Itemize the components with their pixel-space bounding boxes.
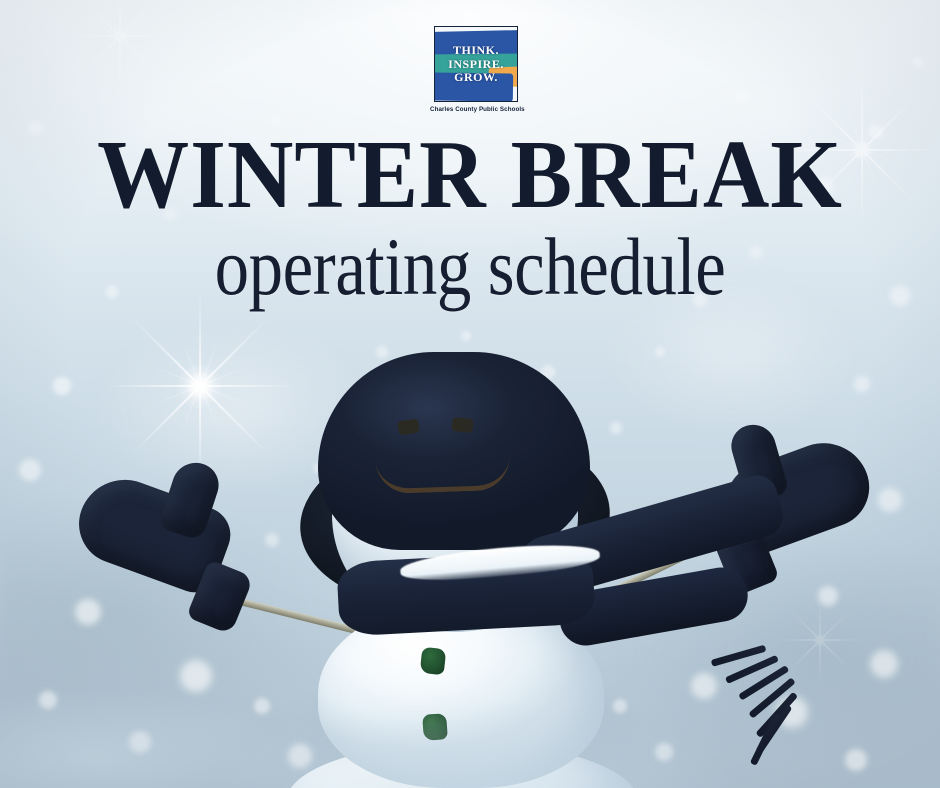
page-title: WINTER BREAK [28, 126, 912, 224]
scarf-fringe-layer [0, 0, 940, 788]
snowman-illustration [0, 0, 940, 788]
page-subtitle: operating schedule [75, 226, 865, 308]
winter-break-poster: THINK. INSPIRE. GROW. Charles County Pub… [0, 0, 940, 788]
